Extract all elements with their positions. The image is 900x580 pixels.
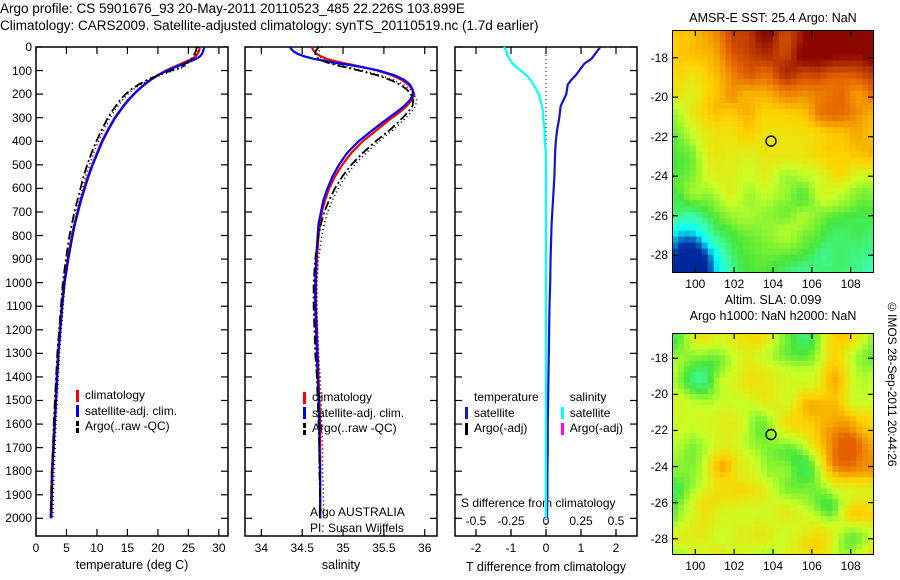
map-lon-tick: 106	[802, 559, 822, 573]
map-lat-tick: -24	[636, 169, 668, 183]
axis-tick-s: 0	[543, 514, 550, 528]
map-lon-tick: 102	[724, 277, 744, 291]
axis-tick-depth: 1000	[0, 276, 32, 290]
s-difference-label: S difference from climatology	[461, 496, 616, 512]
legend-label: climatology	[312, 390, 372, 406]
map-lat-tick: -20	[636, 90, 668, 104]
axis-tick-depth: 800	[0, 229, 32, 243]
series-climatology	[312, 47, 414, 518]
axis-tick-depth: 1600	[0, 417, 32, 431]
title-line-2: Climatology: CARS2009. Satellite-adjuste…	[0, 18, 539, 33]
axis-tick-depth: 1200	[0, 323, 32, 337]
title-line-1: Argo profile: CS 5901676_93 20-May-2011 …	[0, 1, 465, 16]
legend-temperature: climatologysatellite-adj. clim.Argo(..ra…	[76, 388, 177, 435]
legend-item: Argo(-adj)	[465, 421, 539, 437]
axis-label-x: temperature (deg C)	[36, 558, 228, 572]
legend-item: satellite	[465, 406, 539, 422]
legend-label: satellite	[570, 406, 611, 422]
map-lat-tick: -22	[636, 130, 668, 144]
legend-swatch	[303, 423, 306, 435]
legend-item: satellite-adj. clim.	[76, 404, 177, 420]
legend-swatch	[465, 423, 468, 435]
axis-tick-x: -2	[471, 541, 482, 555]
axis-tick-x: 1	[578, 541, 585, 555]
series-temperature-satellite	[547, 47, 600, 518]
legend-label: Argo(-adj)	[570, 421, 623, 437]
axis-tick-depth: 1900	[0, 488, 32, 502]
axis-tick-depth: 1800	[0, 464, 32, 478]
legend-column: salinitysatelliteArgo(-adj)	[561, 390, 623, 437]
axis-tick-depth: 100	[0, 64, 32, 78]
axis-tick-depth: 1100	[0, 299, 32, 313]
legend-difference: temperaturesatelliteArgo(-adj)salinitysa…	[465, 390, 623, 437]
axis-tick-depth: 1300	[0, 346, 32, 360]
map-lon-tick: 108	[841, 277, 861, 291]
map-lat-tick: -24	[636, 460, 668, 474]
axis-tick-x: 34.5	[291, 541, 314, 555]
series-climatology	[51, 47, 200, 518]
legend-salinity: climatologysatellite-adj. clim.Argo(..ra…	[303, 390, 404, 437]
axis-tick-x: 35.5	[372, 541, 395, 555]
axis-tick-x: 0	[543, 541, 550, 555]
sst-map-title: AMSR-E SST: 25.4 Argo: NaN	[672, 11, 874, 25]
axis-tick-x: 34	[255, 541, 268, 555]
legend-column-header: temperature	[474, 390, 539, 406]
axis-tick-depth: 1700	[0, 441, 32, 455]
legend-label: climatology	[85, 388, 145, 404]
series-argo-raw-qc-	[51, 47, 197, 518]
sla-map-title: Altim. SLA: 0.099Argo h1000: NaN h2000: …	[660, 292, 886, 324]
legend-swatch	[561, 407, 564, 419]
legend-label: satellite	[474, 406, 515, 422]
legend-swatch	[76, 390, 79, 402]
legend-label: Argo(-adj)	[474, 421, 527, 437]
legend-item: climatology	[303, 390, 404, 406]
legend-swatch	[76, 421, 79, 433]
map-lat-tick: -28	[636, 248, 668, 262]
page-title: Argo profile: CS 5901676_93 20-May-2011 …	[0, 0, 620, 34]
sla-map-frame	[672, 333, 874, 555]
map-lat-tick: -18	[636, 51, 668, 65]
legend-label: satellite-adj. clim.	[312, 406, 404, 422]
annotation-line-1: Argo AUSTRALIA	[310, 505, 405, 521]
axis-tick-x: 30	[212, 541, 225, 555]
axis-tick-depth: 1400	[0, 370, 32, 384]
map-lon-tick: 100	[685, 277, 705, 291]
series-argo-raw-qc-	[314, 47, 414, 518]
axis-tick-x: 15	[121, 541, 134, 555]
axis-tick-depth: 200	[0, 87, 32, 101]
axis-tick-depth: 1500	[0, 393, 32, 407]
axis-tick-depth: 700	[0, 205, 32, 219]
axis-tick-x: 25	[182, 541, 195, 555]
map-lat-tick: -20	[636, 387, 668, 401]
legend-swatch	[465, 407, 468, 419]
sla-title-line-1: Altim. SLA: 0.099	[660, 292, 886, 308]
map-lon-tick: 108	[841, 559, 861, 573]
axis-tick-x: 2	[613, 541, 620, 555]
map-lat-tick: -18	[636, 351, 668, 365]
legend-item: Argo(-adj)	[561, 421, 623, 437]
legend-label: Argo(..raw -QC)	[312, 421, 397, 437]
legend-label: Argo(..raw -QC)	[85, 419, 170, 435]
axis-tick-s: 0.5	[608, 514, 625, 528]
argo-australia-annotation: Argo AUSTRALIAPI: Susan Wijffels	[310, 505, 405, 536]
legend-swatch	[561, 423, 564, 435]
map-lon-tick: 104	[763, 277, 783, 291]
map-lat-tick: -28	[636, 532, 668, 546]
map-lon-tick: 104	[763, 559, 783, 573]
legend-item: satellite-adj. clim.	[303, 406, 404, 422]
legend-item: climatology	[76, 388, 177, 404]
axis-tick-depth: 500	[0, 158, 32, 172]
legend-swatch	[303, 407, 306, 419]
series-satellite-adj-clim-	[290, 47, 413, 518]
legend-item: satellite	[561, 406, 623, 422]
axis-tick-s: -0.25	[497, 514, 524, 528]
axis-label-x: salinity	[245, 558, 437, 572]
map-lat-tick: -22	[636, 423, 668, 437]
annotation-line-2: PI: Susan Wijffels	[310, 521, 405, 537]
map-lat-tick: -26	[636, 209, 668, 223]
legend-swatch	[76, 405, 79, 417]
axis-tick-depth: 600	[0, 181, 32, 195]
axis-tick-depth: 300	[0, 111, 32, 125]
axis-tick-depth: 900	[0, 252, 32, 266]
legend-column: temperaturesatelliteArgo(-adj)	[465, 390, 539, 437]
series-satellite-adj-clim-	[51, 47, 204, 518]
series-salinity-satellite	[504, 47, 546, 518]
map-lon-tick: 100	[685, 559, 705, 573]
axis-tick-x: 10	[90, 541, 103, 555]
series-argo-adjusted-dotted	[53, 47, 199, 518]
legend-item: Argo(..raw -QC)	[303, 421, 404, 437]
axis-tick-depth: 2000	[0, 511, 32, 525]
axis-tick-x: -1	[506, 541, 517, 555]
legend-swatch	[303, 392, 306, 404]
legend-label: satellite-adj. clim.	[85, 404, 177, 420]
sla-title-line-2: Argo h1000: NaN h2000: NaN	[660, 308, 886, 324]
copyright-text: ©IMOS 28-Sep-2011 20:44:26	[885, 300, 899, 467]
axis-tick-x: 0	[33, 541, 40, 555]
axis-tick-depth: 0	[0, 40, 32, 54]
axis-tick-x: 20	[151, 541, 164, 555]
legend-item: Argo(..raw -QC)	[76, 419, 177, 435]
legend-column-header: salinity	[570, 390, 623, 406]
axis-tick-s: -0.5	[466, 514, 487, 528]
series-argo-adjusted-dotted	[317, 47, 417, 518]
axis-tick-depth: 400	[0, 134, 32, 148]
axis-tick-x: 35	[336, 541, 349, 555]
map-lon-tick: 102	[724, 559, 744, 573]
sst-map-frame	[672, 30, 874, 273]
axis-tick-s: 0.25	[569, 514, 592, 528]
map-lat-tick: -26	[636, 496, 668, 510]
axis-tick-x: 5	[63, 541, 70, 555]
map-lon-tick: 106	[802, 277, 822, 291]
axis-label-x: T difference from climatology	[455, 560, 637, 574]
axis-tick-x: 36	[418, 541, 431, 555]
